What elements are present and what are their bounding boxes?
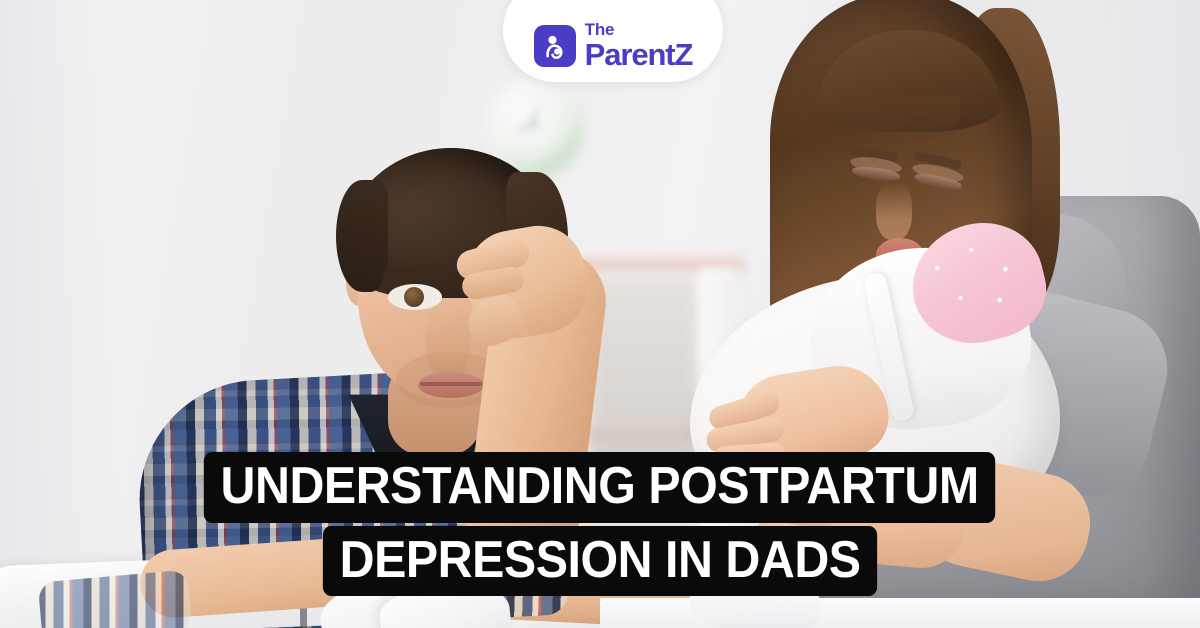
father-iris-left (404, 287, 424, 307)
headline-block: UNDERSTANDING POSTPARTUM DEPRESSION IN D… (0, 452, 1200, 596)
headline-line-1-wrapper: UNDERSTANDING POSTPARTUM (0, 452, 1200, 523)
headline-line-2: DEPRESSION IN DADS (323, 526, 877, 597)
father-nose (426, 306, 470, 382)
father-hair-side-left (336, 180, 388, 292)
headline-line-2-wrapper: DEPRESSION IN DADS (0, 526, 1200, 597)
headline-line-1: UNDERSTANDING POSTPARTUM (204, 452, 996, 523)
brand-logo-pill[interactable]: The ParentZ (503, 0, 723, 82)
brand-logo: The ParentZ (534, 21, 693, 70)
brand-prefix: The (585, 21, 693, 38)
parent-holding-baby-icon (534, 25, 576, 67)
brand-name: ParentZ (585, 39, 693, 70)
social-share-card: The ParentZ UNDERSTANDING POSTPARTUM DEP… (0, 0, 1200, 628)
brand-wordmark: The ParentZ (585, 21, 693, 70)
father-lip-line (420, 382, 482, 386)
